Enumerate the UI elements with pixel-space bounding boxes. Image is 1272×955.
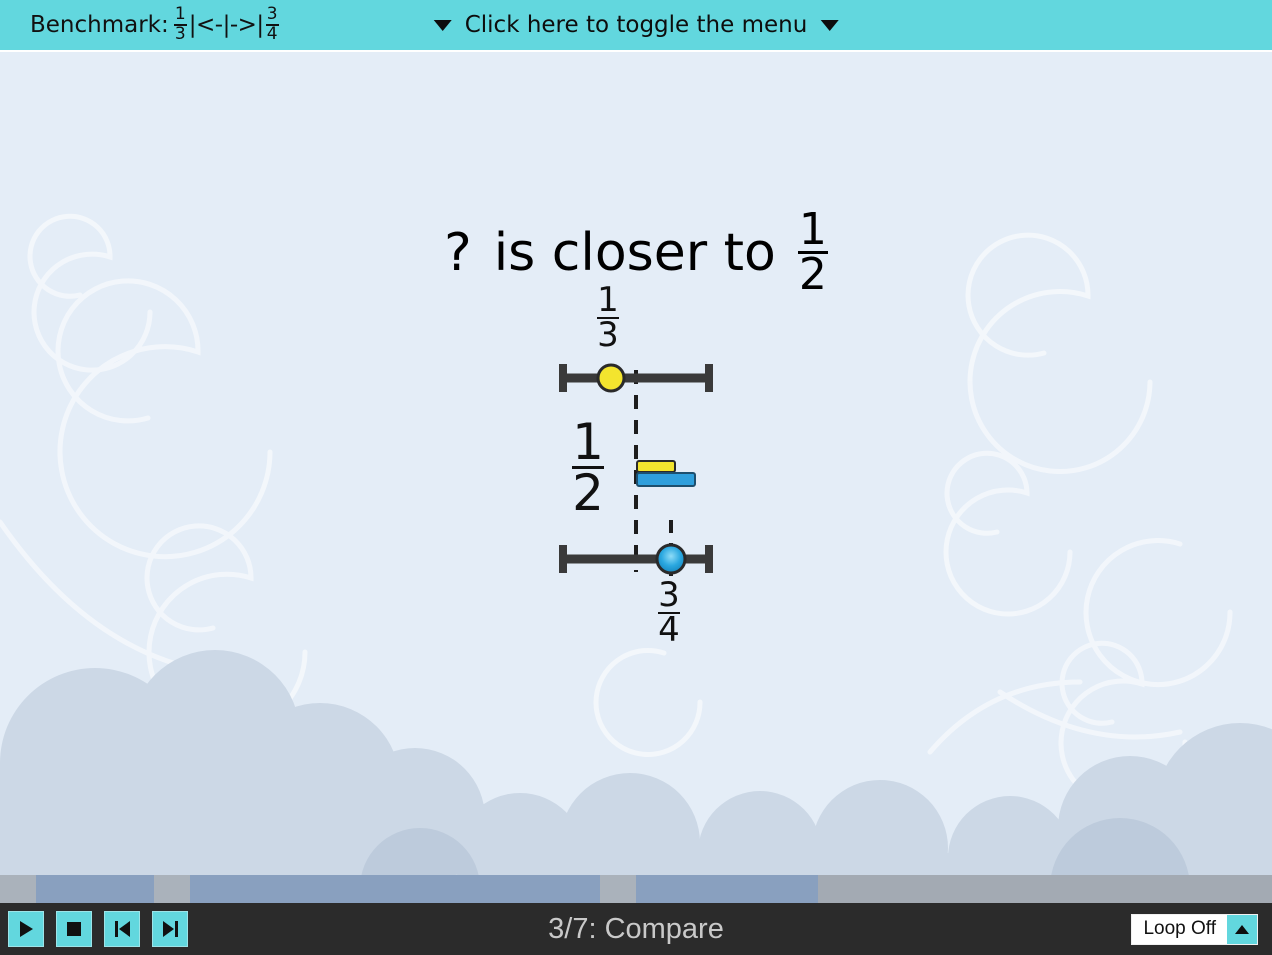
bottom-control-bar: 3/7: Compare Loop Off bbox=[0, 903, 1272, 955]
top-line-fraction-label: 1 3 bbox=[597, 285, 619, 352]
status-text: 3/7: Compare bbox=[548, 913, 724, 946]
benchmark-arrows: |<-|->| bbox=[189, 12, 264, 38]
loop-dropdown-button[interactable] bbox=[1227, 915, 1257, 944]
loop-label: Loop Off bbox=[1132, 915, 1227, 944]
next-button[interactable] bbox=[152, 911, 188, 947]
skip-next-icon bbox=[162, 920, 179, 938]
play-button[interactable] bbox=[8, 911, 44, 947]
blue-marker-dot bbox=[657, 545, 685, 573]
fraction-denominator: 2 bbox=[572, 470, 604, 516]
number-line-diagram bbox=[0, 52, 1272, 903]
fraction-denominator: 3 bbox=[597, 320, 619, 351]
fraction-denominator: 4 bbox=[267, 27, 278, 43]
top-header-bar: Benchmark: 1 3 |<-|->| 3 4 Click here to… bbox=[0, 0, 1272, 52]
bottom-line-fraction-label: 3 4 bbox=[658, 580, 680, 647]
previous-button[interactable] bbox=[104, 911, 140, 947]
fraction-denominator: 4 bbox=[658, 615, 680, 646]
skip-previous-icon bbox=[114, 920, 131, 938]
fraction-numerator: 1 bbox=[572, 419, 604, 465]
fraction-numerator: 3 bbox=[267, 7, 278, 23]
stop-button[interactable] bbox=[56, 911, 92, 947]
fraction-numerator: 3 bbox=[658, 580, 680, 611]
play-icon bbox=[18, 920, 34, 938]
yellow-distance-bar bbox=[637, 461, 675, 472]
stop-icon bbox=[66, 921, 82, 937]
yellow-marker-dot bbox=[598, 365, 624, 391]
triangle-up-icon bbox=[1235, 925, 1249, 934]
main-stage: ? is closer to 1 2 bbox=[0, 52, 1272, 903]
fraction-numerator: 1 bbox=[175, 7, 186, 23]
benchmark-fraction-label: 1 2 bbox=[572, 419, 604, 516]
fraction-denominator: 3 bbox=[175, 27, 186, 43]
transport-controls bbox=[8, 911, 188, 947]
benchmark-indicator: Benchmark: 1 3 |<-|->| 3 4 bbox=[30, 7, 279, 42]
fraction-numerator: 1 bbox=[597, 285, 619, 316]
blue-distance-bar bbox=[637, 473, 695, 486]
top-number-line-group bbox=[562, 364, 710, 392]
application-window: Benchmark: 1 3 |<-|->| 3 4 Click here to… bbox=[0, 0, 1272, 955]
loop-control[interactable]: Loop Off bbox=[1131, 914, 1258, 945]
benchmark-left-fraction: 1 3 bbox=[174, 7, 187, 42]
menu-toggle-button[interactable]: Click here to toggle the menu bbox=[434, 12, 839, 38]
benchmark-right-fraction: 3 4 bbox=[266, 7, 279, 42]
menu-toggle-label: Click here to toggle the menu bbox=[465, 12, 808, 38]
triangle-down-icon bbox=[434, 20, 452, 31]
triangle-down-icon bbox=[820, 20, 838, 31]
benchmark-label: Benchmark: bbox=[30, 12, 169, 38]
comparison-bars-group bbox=[637, 461, 695, 486]
